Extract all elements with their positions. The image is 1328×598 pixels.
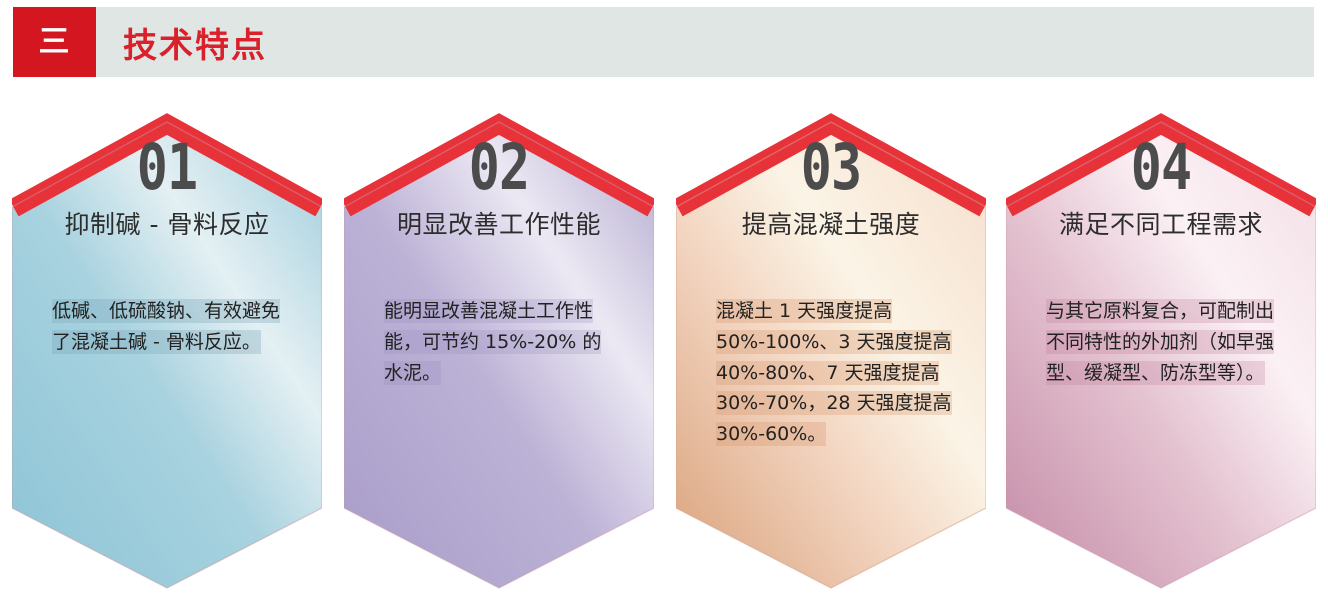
feature-card-03[interactable]: 03 提高混凝土强度 混凝土 1 天强度提高 50%-100%、3 天强度提高 … [676, 108, 986, 590]
card-heading-04: 满足不同工程需求 [1006, 210, 1316, 240]
card-heading-02: 明显改善工作性能 [344, 210, 654, 240]
feature-card-01[interactable]: 01 抑制碱 - 骨料反应 低碱、低硫酸钠、有效避免了混凝土碱 - 骨料反应。 [12, 108, 322, 590]
feature-card-02[interactable]: 02 明显改善工作性能 能明显改善混凝土工作性能，可节约 15%-20% 的水泥… [344, 108, 654, 590]
card-number-04: 04 [1034, 136, 1288, 199]
card-body-02: 能明显改善混凝土工作性能，可节约 15%-20% 的水泥。 [384, 296, 620, 388]
card-content-02: 02 明显改善工作性能 能明显改善混凝土工作性能，可节约 15%-20% 的水泥… [344, 108, 654, 590]
feature-cards-container: 01 抑制碱 - 骨料反应 低碱、低硫酸钠、有效避免了混凝土碱 - 骨料反应。 … [0, 108, 1328, 598]
card-content-04: 04 满足不同工程需求 与其它原料复合，可配制出不同特性的外加剂（如早强型、缓凝… [1006, 108, 1316, 590]
card-content-01: 01 抑制碱 - 骨料反应 低碱、低硫酸钠、有效避免了混凝土碱 - 骨料反应。 [12, 108, 322, 590]
section-header: 三 技术特点 [13, 7, 1314, 77]
card-heading-01: 抑制碱 - 骨料反应 [12, 210, 322, 240]
card-number-02: 02 [372, 136, 626, 199]
card-body-text-03: 混凝土 1 天强度提高 50%-100%、3 天强度提高 40%-80%、7 天… [716, 299, 952, 446]
card-body-text-01: 低碱、低硫酸钠、有效避免了混凝土碱 - 骨料反应。 [52, 299, 280, 354]
card-body-text-02: 能明显改善混凝土工作性能，可节约 15%-20% 的水泥。 [384, 299, 601, 385]
card-number-01: 01 [40, 136, 294, 199]
card-heading-03: 提高混凝土强度 [676, 210, 986, 240]
section-number-badge: 三 [13, 7, 96, 77]
card-content-03: 03 提高混凝土强度 混凝土 1 天强度提高 50%-100%、3 天强度提高 … [676, 108, 986, 590]
card-body-text-04: 与其它原料复合，可配制出不同特性的外加剂（如早强型、缓凝型、防冻型等）。 [1046, 299, 1274, 385]
card-body-04: 与其它原料复合，可配制出不同特性的外加剂（如早强型、缓凝型、防冻型等）。 [1046, 296, 1282, 388]
card-body-01: 低碱、低硫酸钠、有效避免了混凝土碱 - 骨料反应。 [52, 296, 288, 358]
feature-card-04[interactable]: 04 满足不同工程需求 与其它原料复合，可配制出不同特性的外加剂（如早强型、缓凝… [1006, 108, 1316, 590]
page-title: 技术特点 [123, 7, 267, 77]
section-number-label: 三 [39, 27, 71, 58]
card-number-03: 03 [704, 136, 958, 199]
card-body-03: 混凝土 1 天强度提高 50%-100%、3 天强度提高 40%-80%、7 天… [716, 296, 952, 450]
